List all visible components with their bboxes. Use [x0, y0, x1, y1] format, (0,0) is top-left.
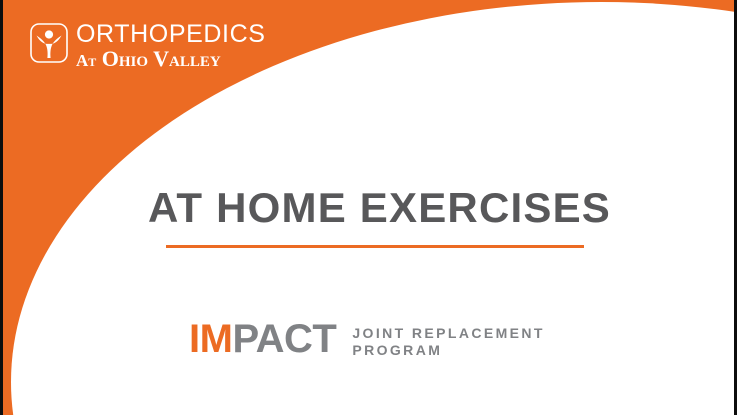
program-name: JOINT REPLACEMENT PROGRAM — [352, 318, 544, 359]
logo-line-at-ohio-valley: At Ohio Valley — [76, 47, 266, 72]
title-underline-rule — [166, 245, 584, 248]
logo-line-orthopedics: ORTHOPEDICS — [76, 21, 266, 47]
program-line-1: JOINT REPLACEMENT — [352, 325, 544, 342]
brand-logo: ORTHOPEDICS At Ohio Valley — [29, 20, 266, 72]
logo-at-word: At — [76, 51, 96, 70]
page-title: AT HOME EXERCISES — [3, 184, 734, 232]
logo-org-word: Ohio Valley — [102, 46, 221, 71]
impact-wordmark: IMPACT — [189, 318, 336, 360]
orthopedics-figure-mark-icon — [29, 21, 69, 65]
title-slide: ORTHOPEDICS At Ohio Valley AT HOME EXERC… — [0, 0, 737, 415]
program-lockup: IMPACT JOINT REPLACEMENT PROGRAM — [189, 318, 545, 360]
impact-suffix: PACT — [232, 317, 336, 361]
impact-prefix: IM — [189, 317, 232, 361]
logo-wordmark: ORTHOPEDICS At Ohio Valley — [76, 20, 266, 72]
program-line-2: PROGRAM — [352, 342, 544, 359]
title-block: AT HOME EXERCISES — [3, 184, 734, 248]
